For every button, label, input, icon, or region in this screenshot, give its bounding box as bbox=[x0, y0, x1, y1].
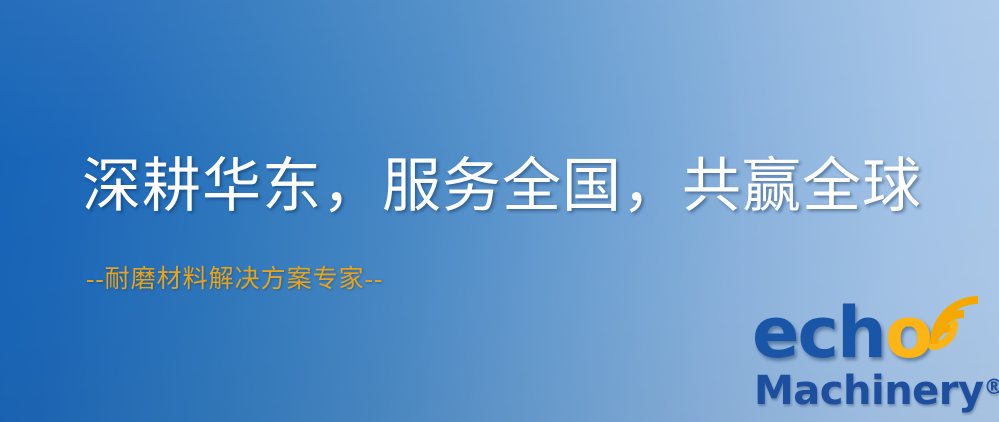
logo-word-o: o bbox=[885, 292, 931, 374]
company-logo: echo Machinery® bbox=[752, 296, 992, 418]
banner-headline: 深耕华东，服务全国，共赢全球 bbox=[82, 155, 922, 219]
signal-waves-icon bbox=[928, 292, 990, 350]
logo-word-ech: ech bbox=[752, 292, 885, 374]
logo-word-machinery: Machinery bbox=[754, 368, 984, 414]
logo-subtext: Machinery® bbox=[754, 368, 999, 414]
logo-wordmark: echo bbox=[752, 296, 931, 370]
banner-subtitle: --耐磨材料解决方案专家-- bbox=[86, 265, 383, 295]
promo-banner: 深耕华东，服务全国，共赢全球 --耐磨材料解决方案专家-- echo Machi… bbox=[0, 0, 999, 422]
registered-trademark-mark: ® bbox=[984, 375, 999, 399]
